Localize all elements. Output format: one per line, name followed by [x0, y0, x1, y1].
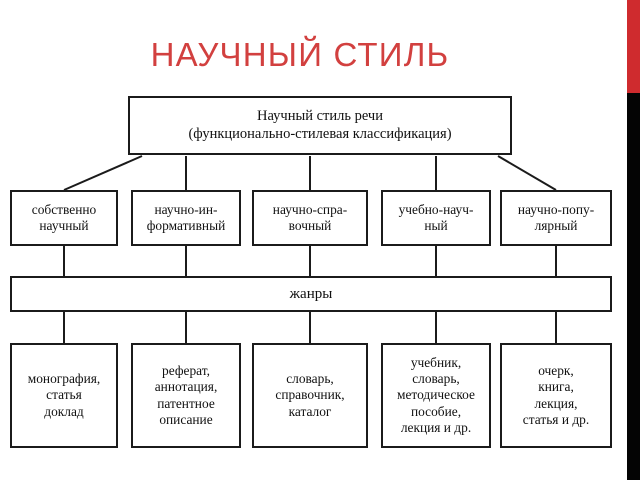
node-genre-2: словарь, справочник, каталог — [252, 343, 368, 448]
node-style-1-label: научно-ин- формативный — [144, 202, 229, 235]
node-genres-bar-label: жанры — [287, 285, 336, 303]
node-genre-3: учебник, словарь, методическое пособие, … — [381, 343, 491, 448]
node-genre-0: монография, статья доклад — [10, 343, 118, 448]
node-style-4-label: научно-попу- лярный — [515, 202, 597, 235]
node-genres-bar: жанры — [10, 276, 612, 312]
node-root: Научный стиль речи (функционально-стилев… — [128, 96, 512, 155]
slide-canvas: НАУЧНЫЙ СТИЛЬ Научный стиль речи (функци… — [0, 0, 640, 480]
node-style-4: научно-попу- лярный — [500, 190, 612, 246]
node-style-3: учебно-науч- ный — [381, 190, 491, 246]
node-style-2: научно-спра- вочный — [252, 190, 368, 246]
node-genre-3-label: учебник, словарь, методическое пособие, … — [394, 355, 478, 437]
node-genre-1: реферат, аннотация, патентное описание — [131, 343, 241, 448]
connector-root-to-style-0 — [64, 156, 142, 190]
node-root-label: Научный стиль речи (функционально-стилев… — [185, 108, 454, 143]
node-style-0-label: собственно научный — [29, 202, 99, 235]
node-genre-2-label: словарь, справочник, каталог — [272, 371, 347, 420]
node-style-3-label: учебно-науч- ный — [396, 202, 477, 235]
node-style-2-label: научно-спра- вочный — [270, 202, 350, 235]
node-genre-4: очерк, книга, лекция, статья и др. — [500, 343, 612, 448]
node-genre-4-label: очерк, книга, лекция, статья и др. — [520, 363, 592, 428]
node-style-0: собственно научный — [10, 190, 118, 246]
node-genre-1-label: реферат, аннотация, патентное описание — [152, 363, 221, 428]
node-style-1: научно-ин- формативный — [131, 190, 241, 246]
connector-root-to-style-4 — [498, 156, 556, 190]
node-genre-0-label: монография, статья доклад — [25, 371, 104, 420]
